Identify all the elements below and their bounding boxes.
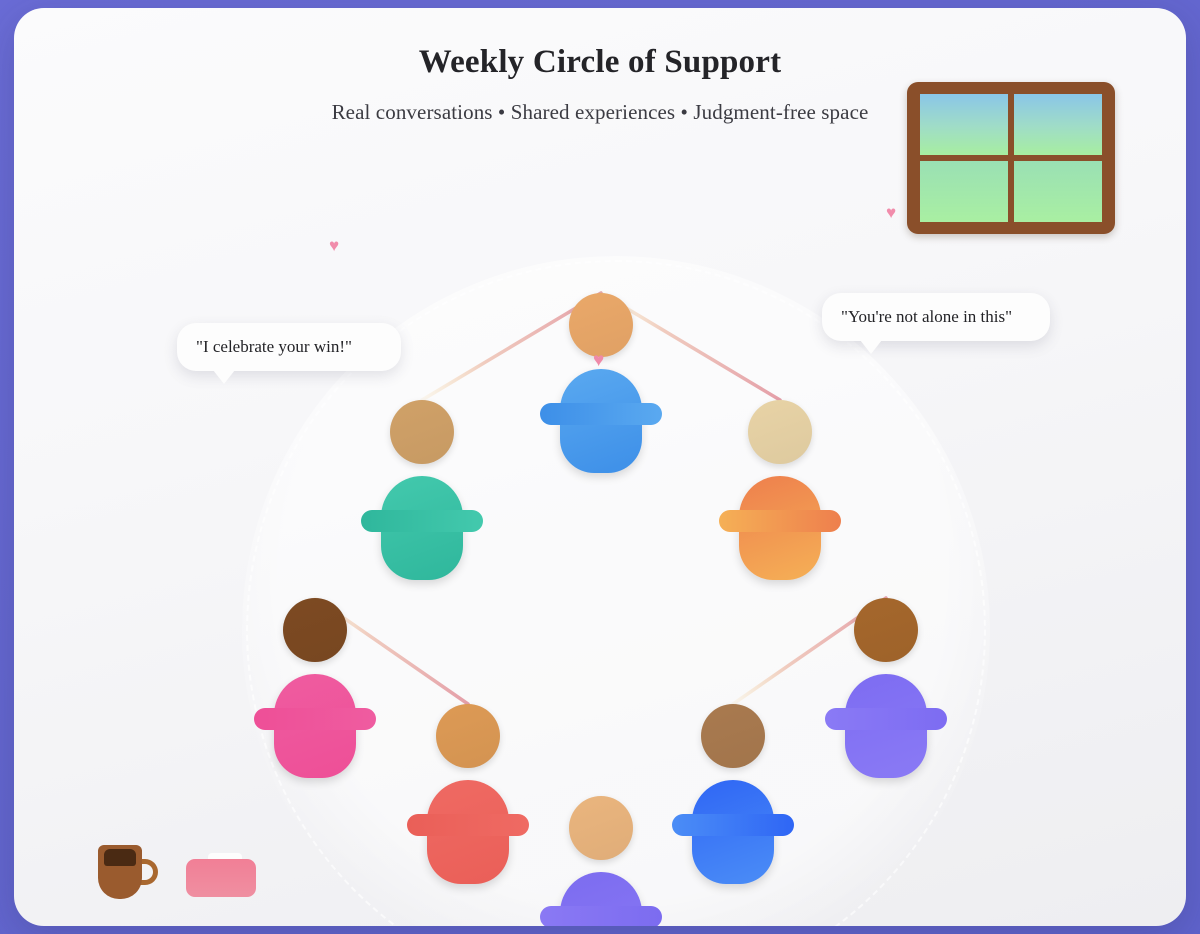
bubble-tail bbox=[213, 370, 235, 384]
participant-arms bbox=[407, 814, 529, 836]
illustration-canvas: Weekly Circle of Support Real conversati… bbox=[0, 0, 1200, 934]
participant-arms bbox=[254, 708, 376, 730]
coffee-mug-icon bbox=[98, 841, 156, 899]
participant-head bbox=[390, 400, 454, 464]
participant-arms bbox=[719, 510, 841, 532]
speech-bubble-not-alone[interactable]: "You're not alone in this" bbox=[822, 293, 1050, 341]
participant-head bbox=[854, 598, 918, 662]
floating-heart-right-icon: ♥ bbox=[886, 204, 896, 221]
speech-bubble-celebrate[interactable]: "I celebrate your win!" bbox=[177, 323, 401, 371]
participant-arms bbox=[540, 906, 662, 926]
participant-head bbox=[748, 400, 812, 464]
participant-head bbox=[283, 598, 347, 662]
participant-heart-badge-icon: ♥ bbox=[593, 351, 604, 370]
speech-bubble-text: "I celebrate your win!" bbox=[196, 337, 352, 356]
floating-heart-left-icon: ♥ bbox=[329, 237, 339, 254]
scene-card: Weekly Circle of Support Real conversati… bbox=[14, 8, 1186, 926]
participant-head bbox=[569, 293, 633, 357]
participant-arms bbox=[825, 708, 947, 730]
participant-head bbox=[569, 796, 633, 860]
participant-head bbox=[436, 704, 500, 768]
bubble-tail bbox=[860, 340, 882, 354]
tissue-box-body bbox=[186, 859, 256, 897]
tissue-box-icon bbox=[186, 853, 256, 897]
participant-arms bbox=[540, 403, 662, 425]
participant-arms bbox=[672, 814, 794, 836]
mug-coffee bbox=[104, 849, 136, 866]
mug-body bbox=[98, 845, 142, 899]
participant-head bbox=[701, 704, 765, 768]
speech-bubble-text: "You're not alone in this" bbox=[841, 307, 1012, 326]
participant-arms bbox=[361, 510, 483, 532]
